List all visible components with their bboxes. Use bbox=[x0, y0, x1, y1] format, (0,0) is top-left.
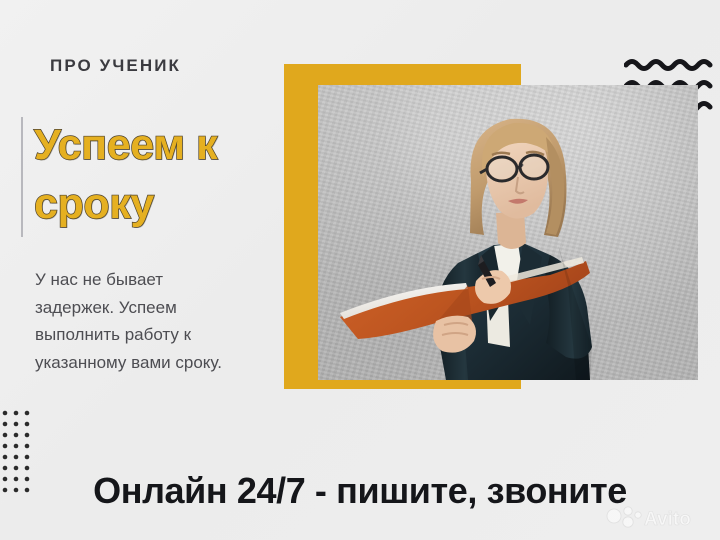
poster-canvas: ПРО УЧЕНИК Успеем к сроку У нас не бывае… bbox=[0, 0, 720, 540]
headline: Успеем к сроку bbox=[34, 116, 284, 235]
headline-line-1: Успеем к bbox=[34, 116, 284, 175]
hero-photo bbox=[318, 85, 698, 380]
vertical-rule bbox=[21, 117, 23, 237]
businesswoman-illustration bbox=[318, 85, 698, 380]
body-paragraph: У нас не бывает задержек. Успеем выполни… bbox=[35, 266, 240, 376]
eyebrow-label: ПРО УЧЕНИК bbox=[50, 56, 181, 76]
svg-text:Avito: Avito bbox=[644, 509, 691, 530]
headline-line-2: сроку bbox=[34, 175, 284, 234]
avito-logo-icon: Avito bbox=[604, 504, 708, 534]
